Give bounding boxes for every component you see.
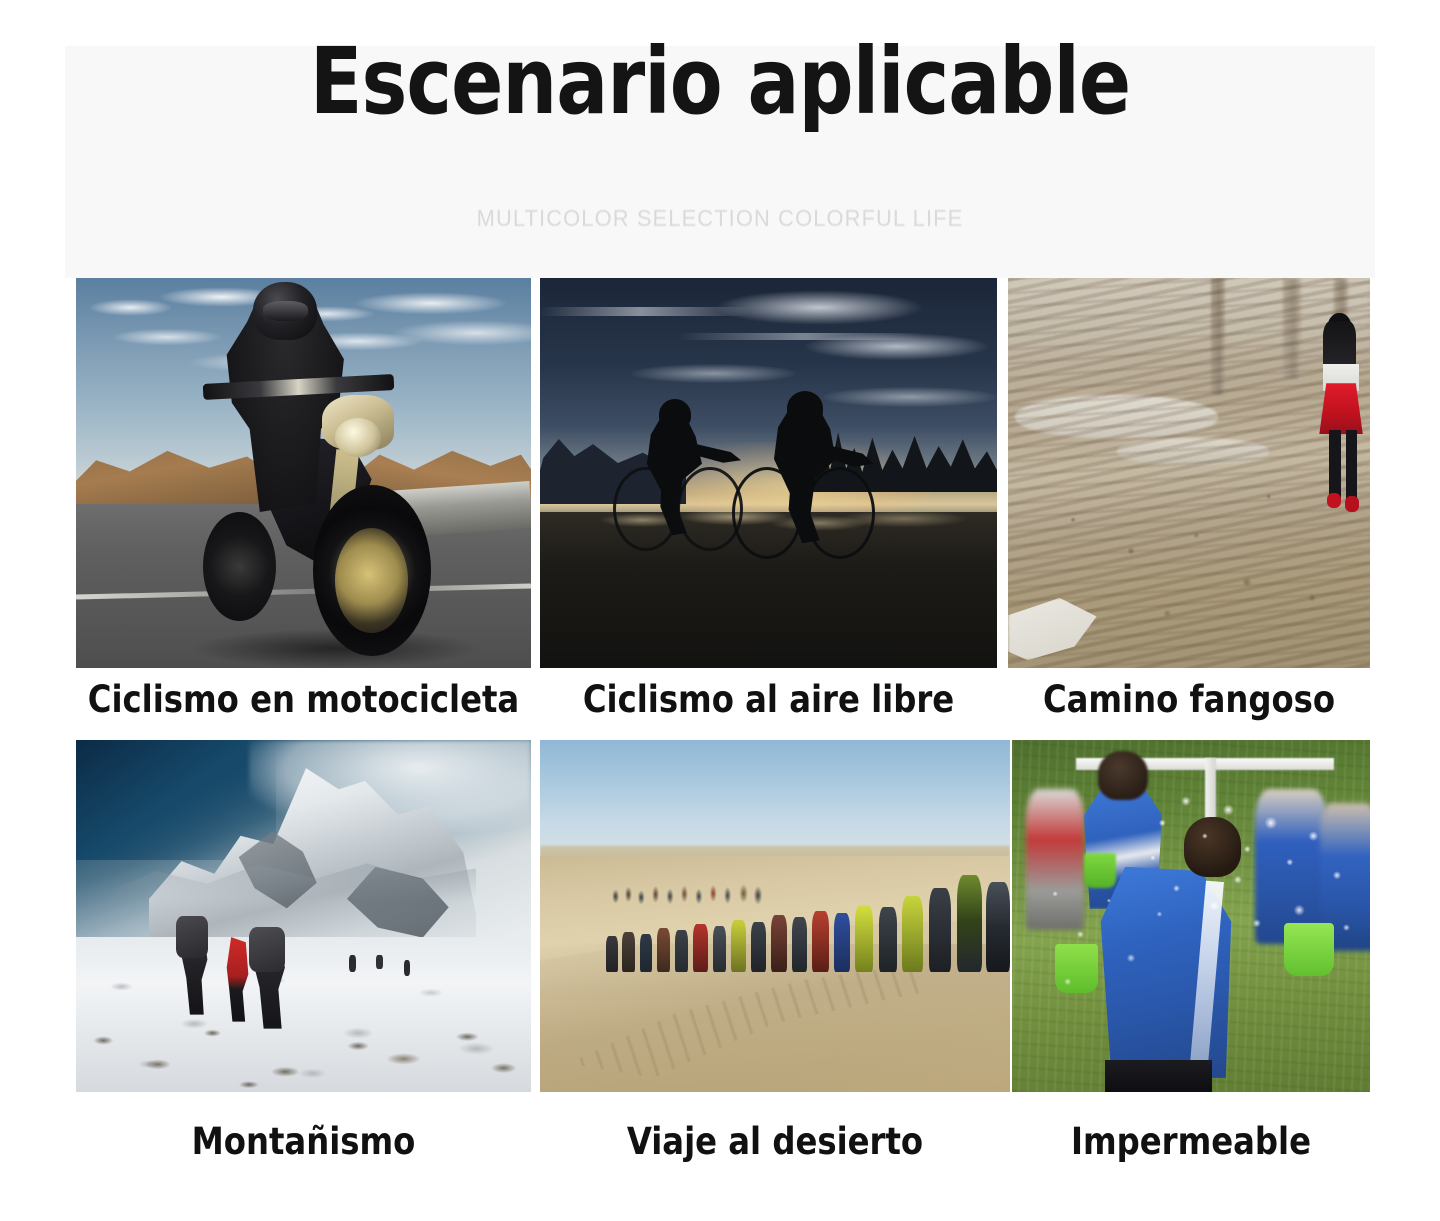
cloud-2: [805, 333, 988, 360]
gallery-cell-motorcycle[interactable]: Ciclismo en motocicleta: [76, 278, 531, 668]
hiker: [693, 924, 708, 973]
hiker: [902, 896, 922, 972]
hiker: [713, 926, 727, 972]
helmet-visor: [263, 301, 309, 321]
hiker: [751, 922, 766, 973]
gallery-cell-waterproof[interactable]: Impermeable: [1012, 740, 1370, 1092]
hiker: [792, 917, 807, 972]
cyclist-2-head: [787, 391, 824, 426]
distant-climber-1: [349, 955, 356, 973]
scattered-rocks: [76, 1000, 531, 1092]
scenario-caption: Ciclismo al aire libre: [547, 678, 990, 721]
person-red-skirt: [1319, 383, 1362, 434]
person-right-leg: [1346, 430, 1358, 500]
gallery-cell-mountaineering[interactable]: Montañismo: [76, 740, 531, 1092]
scenario-caption: Impermeable: [1017, 1120, 1364, 1163]
hiker: [640, 934, 652, 972]
scenario-image-mountaineering[interactable]: [76, 740, 531, 1092]
applicable-scenario-page: Escenario aplicable MULTICOLOR SELECTION…: [0, 0, 1440, 1221]
hiker: [675, 930, 688, 972]
page-subtitle: MULTICOLOR SELECTION COLORFUL LIFE: [36, 205, 1404, 232]
scenario-caption: Montañismo: [83, 1120, 524, 1163]
hiker: [957, 875, 982, 972]
page-title: Escenario aplicable: [50, 36, 1389, 128]
scenario-caption: Camino fangoso: [1013, 678, 1364, 721]
person-right-shoe: [1345, 496, 1359, 512]
scenario-image-desert-trip[interactable]: [540, 740, 1010, 1092]
cloud-1: [714, 290, 924, 325]
hiker: [986, 882, 1010, 973]
hiker: [855, 905, 874, 973]
headlight: [335, 418, 381, 457]
gallery-row: Montañismo: [0, 740, 1440, 1221]
scenario-image-waterproof[interactable]: [1012, 740, 1370, 1092]
gallery-cell-desert-trip[interactable]: Viaje al desierto: [540, 740, 1010, 1092]
rear-wheel: [203, 512, 276, 621]
hiker: [879, 907, 897, 972]
water-splash-secondary: [1033, 860, 1191, 1029]
scenario-caption: Ciclismo en motocicleta: [83, 678, 524, 721]
sky-layer: [540, 740, 1010, 860]
hiker: [834, 913, 850, 972]
backpack-right: [249, 927, 285, 973]
scenario-gallery: Ciclismo en motocicleta: [0, 278, 1440, 1221]
cyclist-2-front-wheel: [805, 467, 875, 559]
hiker: [657, 928, 671, 972]
main-boy-shorts: [1105, 1060, 1212, 1092]
cloud-3: [631, 364, 796, 384]
cloud-4: [823, 387, 997, 407]
hiker: [812, 911, 829, 972]
front-rim: [335, 528, 408, 633]
hiker: [606, 936, 618, 972]
gallery-cell-outdoor-cycling[interactable]: Ciclismo al aire libre: [540, 278, 997, 668]
person-left-leg: [1329, 430, 1341, 500]
scenario-image-outdoor-cycling[interactable]: [540, 278, 997, 668]
hiker: [929, 888, 951, 972]
scenario-caption: Viaje al desierto: [547, 1120, 1003, 1163]
cyclist-1-head: [659, 399, 691, 430]
gallery-cell-muddy-road[interactable]: Camino fangoso: [1008, 278, 1370, 668]
scenario-image-muddy-road[interactable]: [1008, 278, 1370, 668]
hiker: [771, 915, 787, 972]
hiker: [622, 932, 635, 972]
hiker: [731, 920, 746, 973]
gallery-row: Ciclismo en motocicleta: [0, 278, 1440, 740]
distant-climber-3: [404, 960, 411, 976]
distant-climber-2: [376, 955, 382, 969]
backpack-left: [176, 916, 208, 958]
hiker-line: [606, 867, 1010, 973]
person-left-shoe: [1327, 493, 1341, 509]
scenario-image-motorcycle[interactable]: [76, 278, 531, 668]
